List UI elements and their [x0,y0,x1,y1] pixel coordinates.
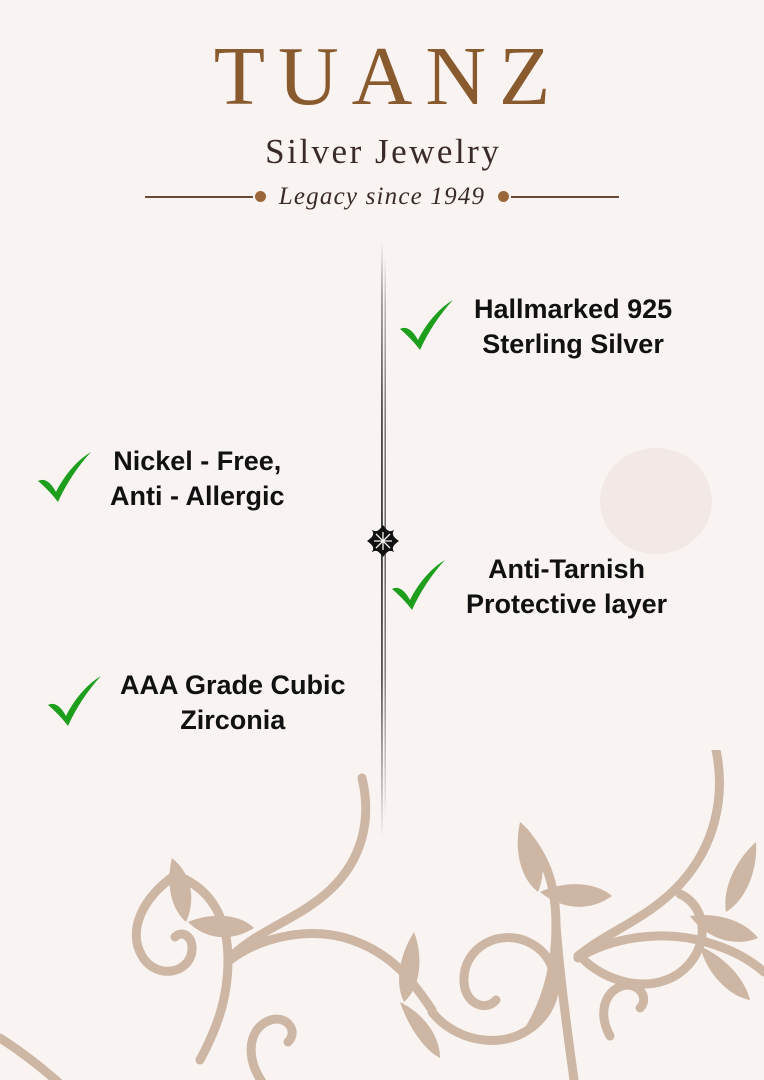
brand-name: TUANZ [0,0,764,120]
brand-header: TUANZ Silver Jewelry Legacy since 1949 [0,0,764,211]
green-check-icon [34,450,96,508]
feature-label: Nickel - Free, Anti - Allergic [110,444,285,513]
feature-label: Hallmarked 925 Sterling Silver [474,292,672,361]
legacy-text: Legacy since 1949 [268,183,496,211]
feature-item-nickel-free: Nickel - Free, Anti - Allergic [34,444,285,513]
legacy-dot-right [498,191,509,202]
green-check-icon [388,558,450,616]
green-check-icon [44,674,106,732]
legacy-rule-right [511,196,619,198]
legacy-dot-left [255,191,266,202]
feature-label: Anti-Tarnish Protective layer [466,552,667,621]
poster-canvas: TUANZ Silver Jewelry Legacy since 1949 [0,0,764,1080]
feature-item-cubic-zirconia: AAA Grade Cubic Zirconia [44,668,346,737]
blush-circle-decoration [600,448,712,554]
legacy-rule-left [145,196,253,198]
green-check-icon [396,298,458,356]
feature-item-anti-tarnish: Anti-Tarnish Protective layer [388,552,667,621]
brand-tagline: Silver Jewelry [0,120,764,172]
feature-label: AAA Grade Cubic Zirconia [120,668,346,737]
legacy-row: Legacy since 1949 [0,172,764,211]
feature-item-hallmarked: Hallmarked 925 Sterling Silver [396,292,672,361]
floral-vine-decoration [0,750,764,1080]
